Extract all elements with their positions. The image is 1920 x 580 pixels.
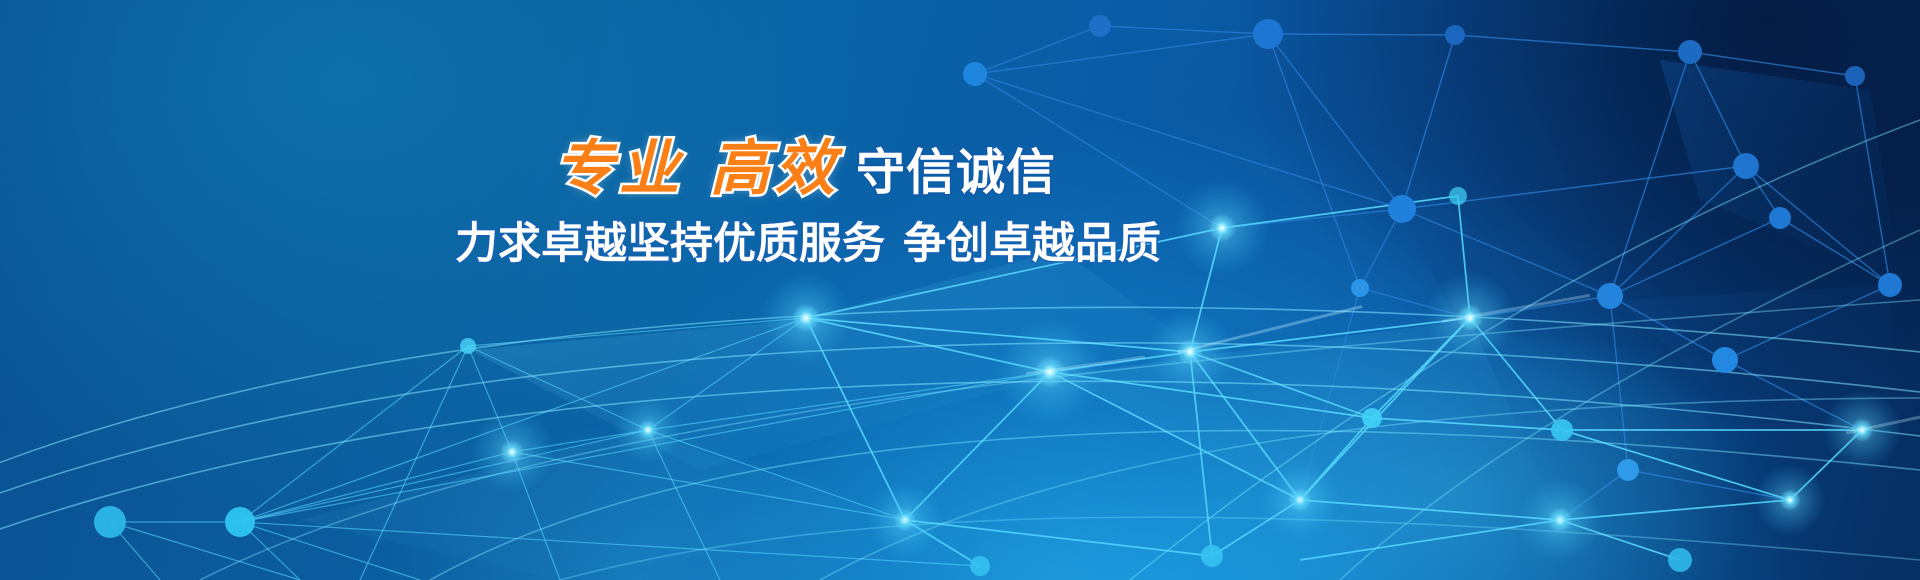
background-bottom-glow [0, 0, 1920, 580]
banner-image: 专业 高效守信诚信 力求卓越坚持优质服务争创卓越品质 [0, 0, 1920, 580]
